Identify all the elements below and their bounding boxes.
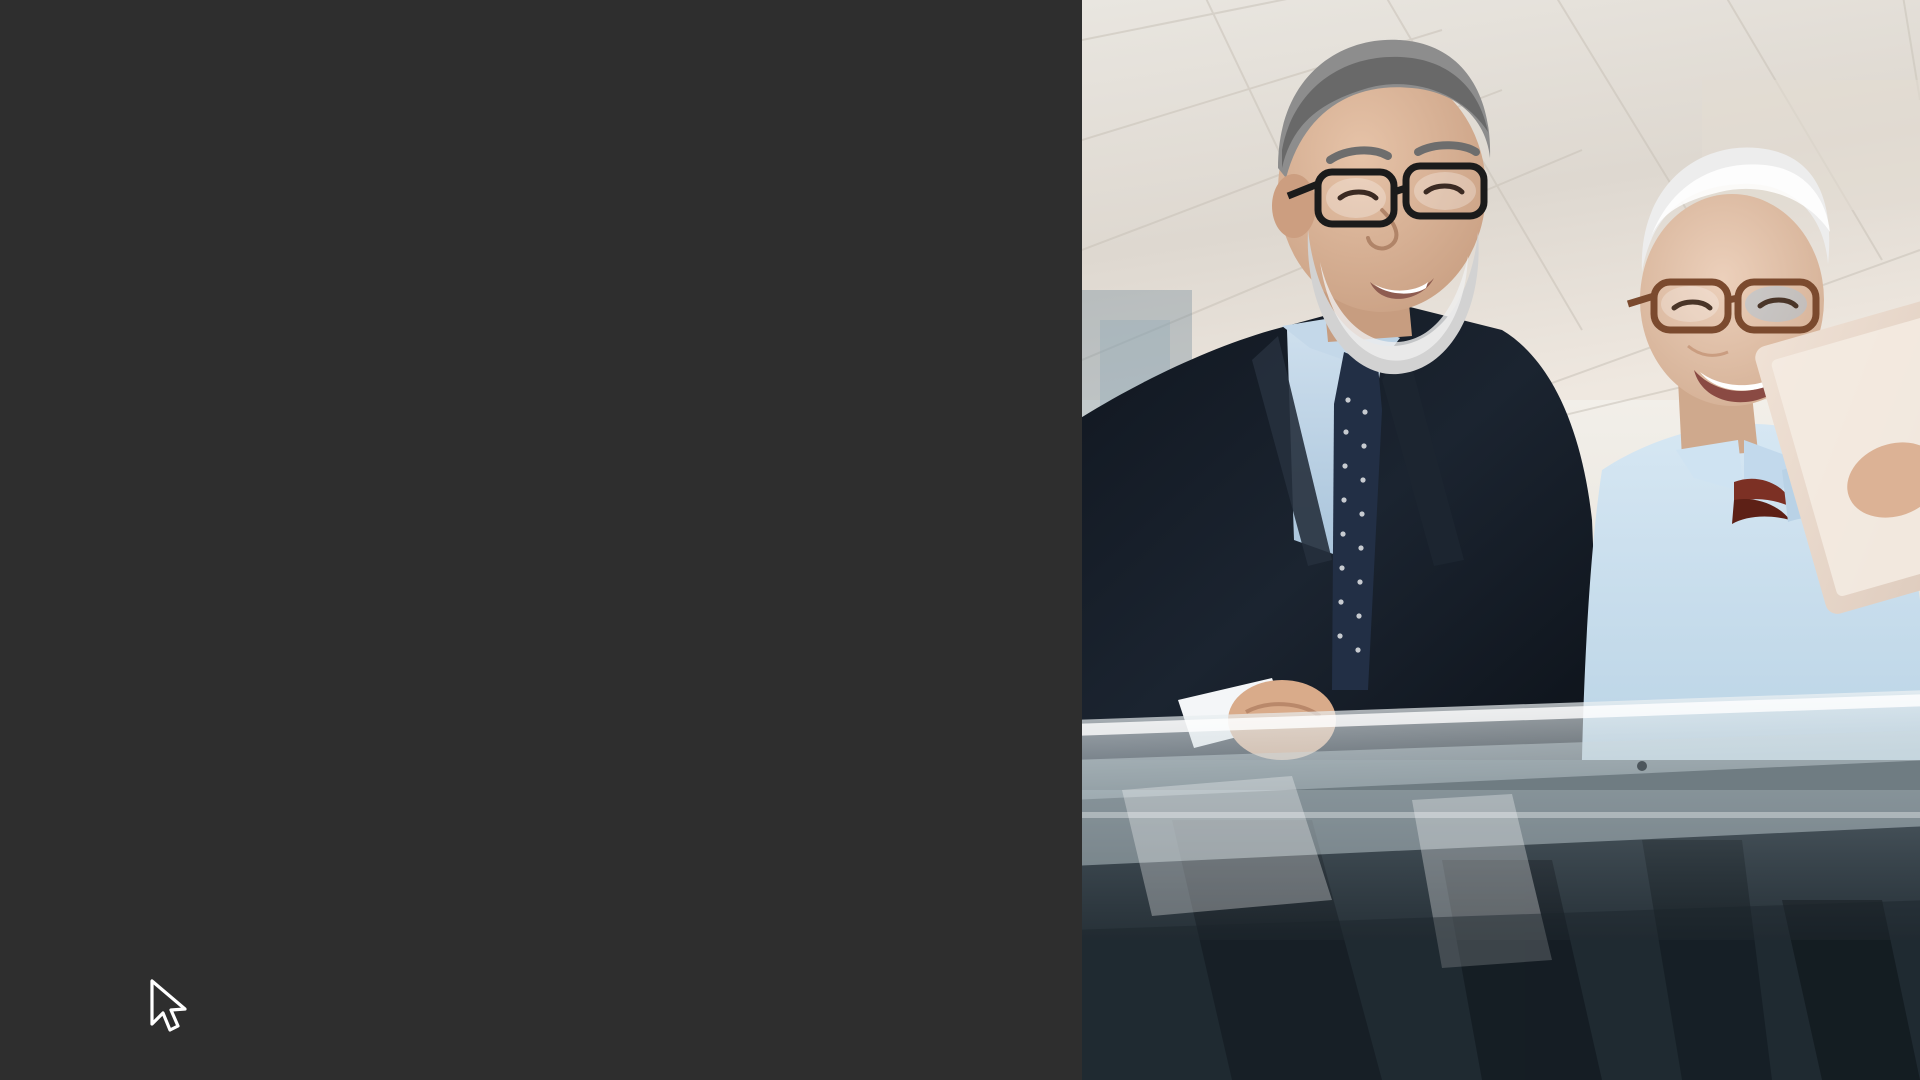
- marketing-banner: Astra Canyon TOP 10 ERP IMPLEMENTATION B…: [0, 0, 1920, 1080]
- content-panel: [0, 0, 1082, 1080]
- mouse-pointer-icon: [146, 978, 190, 1034]
- hero-photo: [1082, 0, 1920, 1080]
